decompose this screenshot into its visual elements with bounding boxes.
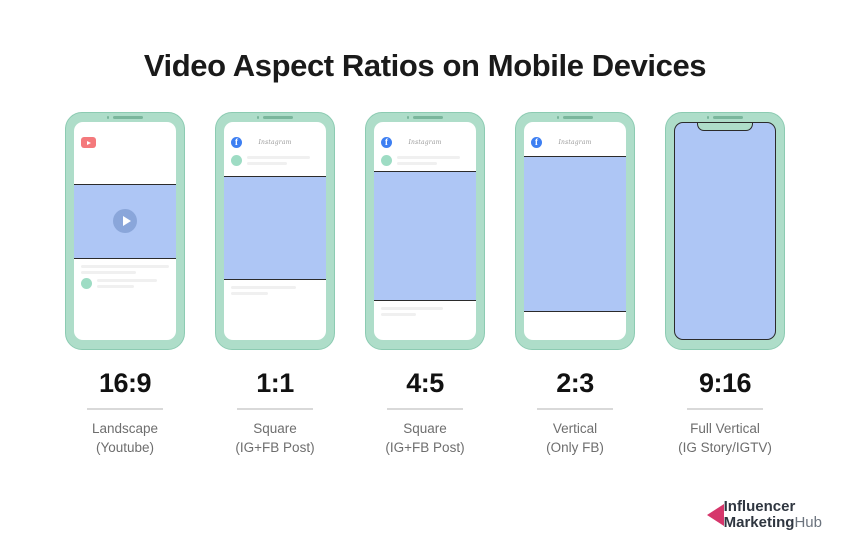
video-area-16-9 [74,184,176,259]
label-divider [687,408,763,410]
app-header-instagram: f Instagram [374,133,476,152]
avatar [381,155,392,166]
skeleton-line [247,162,287,165]
desc-line-2: (IG Story/IGTV) [678,438,772,457]
video-area-2-3 [524,156,626,312]
app-header-instagram: f Instagram [524,133,626,152]
play-button-icon[interactable] [113,209,137,233]
device-list: 16:9 Landscape (Youtube) f Instagram [0,112,850,457]
speaker-bar-icon [413,116,443,119]
brand-line-2: MarketingHub [724,515,822,531]
phone-screen: f Instagram [224,122,326,340]
label-divider [87,408,163,410]
device-item-9-16: 9:16 Full Vertical (IG Story/IGTV) [663,112,787,457]
phone-mockup-16-9 [65,112,185,350]
brand-marketing: Marketing [724,514,795,531]
device-description: Vertical (Only FB) [546,419,604,457]
instagram-wordmark: Instagram [542,139,608,146]
desc-line-1: Vertical [546,419,604,438]
instagram-wordmark: Instagram [392,139,458,146]
brand-line-1: Influencer [724,499,822,515]
skeleton-line [381,307,443,310]
device-item-1-1: f Instagram 1:1 [213,112,337,457]
post-user-row [224,155,326,166]
skeleton-line [231,286,296,289]
facebook-icon: f [231,137,242,148]
page-title: Video Aspect Ratios on Mobile Devices [0,0,850,84]
phone-notch [396,113,454,122]
facebook-icon: f [381,137,392,148]
skeleton-line [97,279,157,282]
phone-screen: f Instagram [374,122,476,340]
skeleton-line [247,156,310,159]
speaker-bar-icon [563,116,593,119]
avatar [231,155,242,166]
caption-lines [224,280,326,295]
phone-screen-fullbleed [674,122,776,340]
phone-mockup-4-5: f Instagram [365,112,485,350]
instagram-wordmark: Instagram [242,139,308,146]
desc-line-1: Full Vertical [678,419,772,438]
phone-screen: f Instagram [524,122,626,340]
skeleton-line [81,265,169,268]
device-item-16-9: 16:9 Landscape (Youtube) [63,112,187,457]
camera-dot-icon [407,116,410,119]
caption-lines [374,301,476,316]
phone-notch [96,113,154,122]
phone-notch [246,113,304,122]
speaker-bar-icon [113,116,143,119]
phone-notch [546,113,604,122]
desc-line-1: Square [385,419,464,438]
aspect-ratio-value: 9:16 [699,370,751,397]
desc-line-1: Landscape [92,419,158,438]
phone-mockup-9-16 [665,112,785,350]
camera-dot-icon [557,116,560,119]
label-divider [537,408,613,410]
label-divider [237,408,313,410]
phone-screen [74,122,176,340]
desc-line-1: Square [235,419,314,438]
brand-logo: Influencer MarketingHub [707,499,822,531]
device-description: Full Vertical (IG Story/IGTV) [678,419,772,457]
device-description: Landscape (Youtube) [92,419,158,457]
skeleton-line [397,162,437,165]
app-header-instagram: f Instagram [224,133,326,152]
camera-dot-icon [257,116,260,119]
left-arrow-mark-icon [707,504,724,526]
aspect-ratio-value: 2:3 [556,370,594,397]
desc-line-2: (Youtube) [92,438,158,457]
camera-dot-icon [107,116,110,119]
skeleton-line [397,156,460,159]
desc-line-2: (IG+FB Post) [235,438,314,457]
device-description: Square (IG+FB Post) [235,419,314,457]
youtube-logo-icon [81,137,96,148]
video-area-1-1 [224,176,326,280]
phone-mockup-2-3: f Instagram [515,112,635,350]
phone-notch [696,113,754,122]
desc-line-2: (Only FB) [546,438,604,457]
device-item-2-3: f Instagram 2:3 Vertical (Only FB) [513,112,637,457]
phone-mockup-1-1: f Instagram [215,112,335,350]
facebook-icon: f [531,137,542,148]
caption-lines [74,259,176,274]
aspect-ratio-value: 16:9 [99,370,151,397]
label-divider [387,408,463,410]
app-header-youtube [74,133,176,152]
video-area-4-5 [374,171,476,301]
desc-line-2: (IG+FB Post) [385,438,464,457]
post-user-row [374,155,476,166]
avatar [81,278,92,289]
speaker-bar-icon [263,116,293,119]
skeleton-line [97,285,134,288]
screen-notch-cutout [697,122,753,131]
aspect-ratio-value: 1:1 [256,370,294,397]
caption-user-row [74,274,176,289]
device-description: Square (IG+FB Post) [385,419,464,457]
aspect-ratio-value: 4:5 [406,370,444,397]
speaker-bar-icon [713,116,743,119]
brand-hub: Hub [794,514,822,531]
device-item-4-5: f Instagram 4:5 [363,112,487,457]
camera-dot-icon [707,116,710,119]
